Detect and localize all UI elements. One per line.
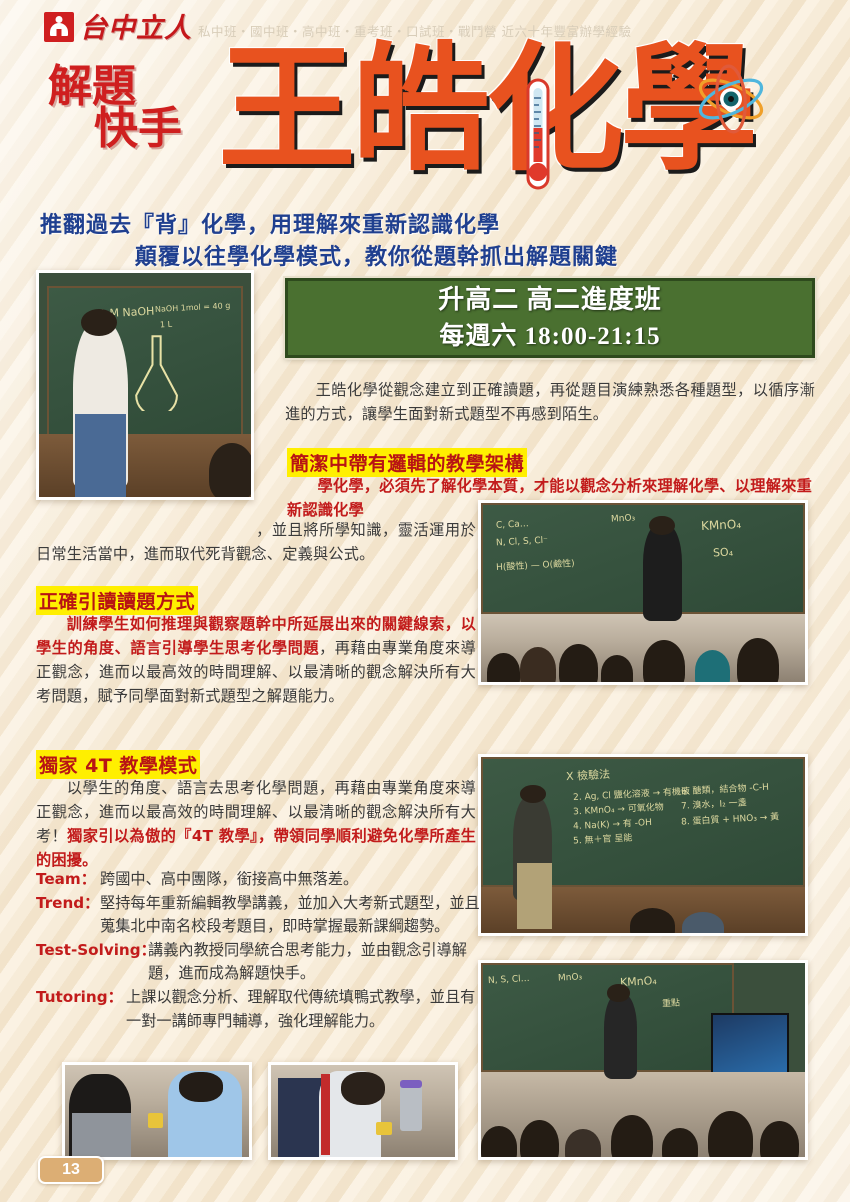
water-bottle (400, 1085, 422, 1131)
chalk-text: MnO₃ (557, 973, 582, 984)
page-title: 王皓化學 (218, 42, 754, 180)
atom-icon (694, 62, 768, 136)
list-item: Team： 跨國中、高中團隊，銜接高中無落差。 (36, 868, 486, 891)
teacher-figure (604, 994, 636, 1079)
poster-page: 台中立人 私中班・國中班・高中班・重考班・口試班・戰鬥營 近六十年豐富辦學經驗 … (0, 0, 850, 1202)
student-clothes (72, 1113, 131, 1157)
list-item-term: Test-Solving： (36, 939, 148, 962)
list-item: Tutoring： 上課以觀念分析、理解取代傳統填鴨式教學，並且有一對一講師專門… (36, 986, 486, 1032)
paragraph-4t-emphasis: 獨家引以為傲的『4T 教學』，帶領同學順利避免化學所產生的困擾。 (36, 827, 476, 869)
chalk-text: 5. 無＋官 呈能 (572, 831, 632, 847)
paragraph-reading: 訓練學生如何推理與觀察題幹中所延展出來的關鍵線索，以學生的角度、語言引導學生思考… (36, 612, 476, 708)
paragraph-structure-emphasis: 學化學，必須先了解化學本質，才能以觀念分析來理解化學、以理解來重新認識化學 (287, 477, 812, 519)
list-item: Trend： 堅持每年重新編輯教學講義，並加入大考新式題型，並且蒐集北中南名校段… (36, 892, 486, 938)
list-item-desc: 堅持每年重新編輯教學講義，並加入大考新式題型，並且蒐集北中南名校段考題目，即時掌… (100, 892, 486, 938)
person-in-square-icon (44, 12, 74, 42)
list-item-term: Team： (36, 868, 100, 891)
list-item-desc: 講義內教授同學統合思考能力，並由觀念引導解題，進而成為解題快手。 (148, 939, 486, 985)
chalk-text: 8. 蛋白質 + HNO₃ → 黃 (681, 809, 780, 827)
photo-teacher-flask: 1 M NaOH NaOH 1mol = 40 g 1 L (36, 270, 254, 500)
bottle-cap (400, 1080, 422, 1088)
chalk-text: N, Cl, S, Cl⁻ (496, 536, 548, 549)
student-heads-row (481, 607, 805, 682)
chalk-text: 重點 (662, 996, 681, 1010)
chalk-text: NaOH 1mol = 40 g (154, 301, 230, 314)
section-heading-4t: 獨家 4T 教學模式 (36, 750, 200, 779)
list-item-desc: 上課以觀念分析、理解取代傳統填鴨式教學，並且有一對一講師專門輔導，強化理解能力。 (126, 986, 486, 1032)
wall-tv-screen (711, 1013, 789, 1079)
photo-classroom-wide: C, Ca… N, Cl, S, Cl⁻ H(酸性) — O(鹼性) KMnO₄… (478, 500, 808, 685)
student-head (209, 443, 254, 500)
brand-row: 台中立人 私中班・國中班・高中班・重考班・口試班・戰鬥營 近六十年豐富辦學經驗 (44, 12, 631, 42)
list-item-term: Tutoring： (36, 986, 126, 1009)
list-4t: Team： 跨國中、高中團隊，銜接高中無落差。 Trend： 堅持每年重新編輯教… (36, 868, 486, 1034)
page-number-badge: 13 (38, 1156, 104, 1184)
flask-drawing (126, 329, 187, 411)
teacher-head (81, 309, 117, 336)
chalk-text: 1 L (160, 320, 173, 330)
schedule-class-name: 升高二 高二進度班 (296, 284, 804, 317)
thermometer-icon (523, 78, 553, 190)
list-item-term: Trend： (36, 892, 100, 915)
schedule-time: 每週六 18:00-21:15 (296, 321, 804, 352)
section-heading-structure: 簡潔中帶有邏輯的教學架構 (287, 448, 527, 477)
logo-head-shape (56, 16, 63, 23)
red-word-line2: 快手 (94, 108, 182, 150)
paragraph-intro: 王皓化學從觀念建立到正確讀題，再從題目演練熟悉各種題型，以循序漸進的方式，讓學生… (285, 378, 815, 426)
photo-students-b (268, 1062, 458, 1160)
student-heads-row (481, 859, 805, 933)
student-head (179, 1072, 223, 1101)
list-item: Test-Solving： 講義內教授同學統合思考能力，並由觀念引導解題，進而成… (36, 939, 486, 985)
teacher-jeans (75, 414, 126, 497)
chalk-text: N, S, Cl… (488, 974, 530, 986)
lab-apparatus (148, 1113, 163, 1128)
list-item-desc: 跨國中、高中團隊，銜接高中無落差。 (100, 868, 486, 891)
chalk-text: 4. Na(K) → 有 -OH (572, 815, 651, 832)
brand-tagline: 私中班・國中班・高中班・重考班・口試班・戰鬥營 近六十年豐富辦學經驗 (198, 21, 631, 42)
teacher-head (520, 785, 546, 803)
paragraph-structure: 學化學，必須先了解化學本質，才能以觀念分析來理解化學、以理解來重新認識化學 (287, 474, 812, 522)
student-head (341, 1072, 385, 1105)
slogan-line-1: 推翻過去『背』化學，用理解來重新認識化學 (40, 212, 500, 237)
chalk-text: 7. 溴水，I₂ 一盞 (681, 795, 747, 811)
paragraph-4t: 以學生的角度、語言去思考化學問題，再藉由專業角度來導正觀念，進而以最高效的時間理… (36, 776, 476, 872)
schedule-banner: 升高二 高二進度班 每週六 18:00-21:15 (285, 278, 815, 358)
chalk-text: X 檢驗法 (566, 765, 611, 783)
chalk-text: SO₄ (713, 545, 734, 559)
poster-slogan: 推翻過去『背』化學，用理解來重新認識化學 顛覆以往學化學模式，教你從題幹抓出解題… (40, 209, 830, 273)
section-heading-reading: 正確引讀讀題方式 (36, 586, 198, 615)
paragraph-intro-text: 王皓化學從觀念建立到正確讀題，再從題目演練熟悉各種題型，以循序漸進的方式，讓學生… (285, 381, 815, 423)
student-heads-row (481, 1076, 805, 1157)
photo-teacher-board: X 檢驗法 2. Ag, Cl 鹽化溶液 → 有機液 3. KMnO₄ → 可氧… (478, 754, 808, 936)
brand-name: 台中立人 (80, 15, 192, 42)
photo-students-a (62, 1062, 252, 1160)
slogan-red-words: 解題 快手 (48, 66, 182, 150)
logo-legs-shape (57, 29, 62, 38)
chalk-text: 2. Ag, Cl 鹽化溶液 → 有機液 (572, 784, 689, 803)
paragraph-structure-rest-text: ，並且將所學知識，靈活運用於日常生活當中，進而取代死背觀念、定義與公式。 (36, 521, 476, 563)
chalk-text: 6. 醣類，結合物 -C-H (681, 779, 769, 797)
lab-apparatus (376, 1122, 393, 1135)
teacher-head (607, 984, 630, 1001)
slogan-line-2: 顛覆以往學化學模式，教你從題幹抓出解題關鍵 (40, 241, 830, 273)
jacket-stripe (321, 1074, 330, 1155)
paragraph-structure-rest: ＿＿＿＿＿＿＿＿＿＿＿＿＿＿，並且將所學知識，靈活運用於日常生活當中，進而取代死… (36, 518, 476, 566)
photo-classroom-tv: N, S, Cl… MnO₃ KMnO₄ 重點 (478, 960, 808, 1160)
chalk-text: H(酸性) — O(鹼性) (496, 556, 575, 573)
